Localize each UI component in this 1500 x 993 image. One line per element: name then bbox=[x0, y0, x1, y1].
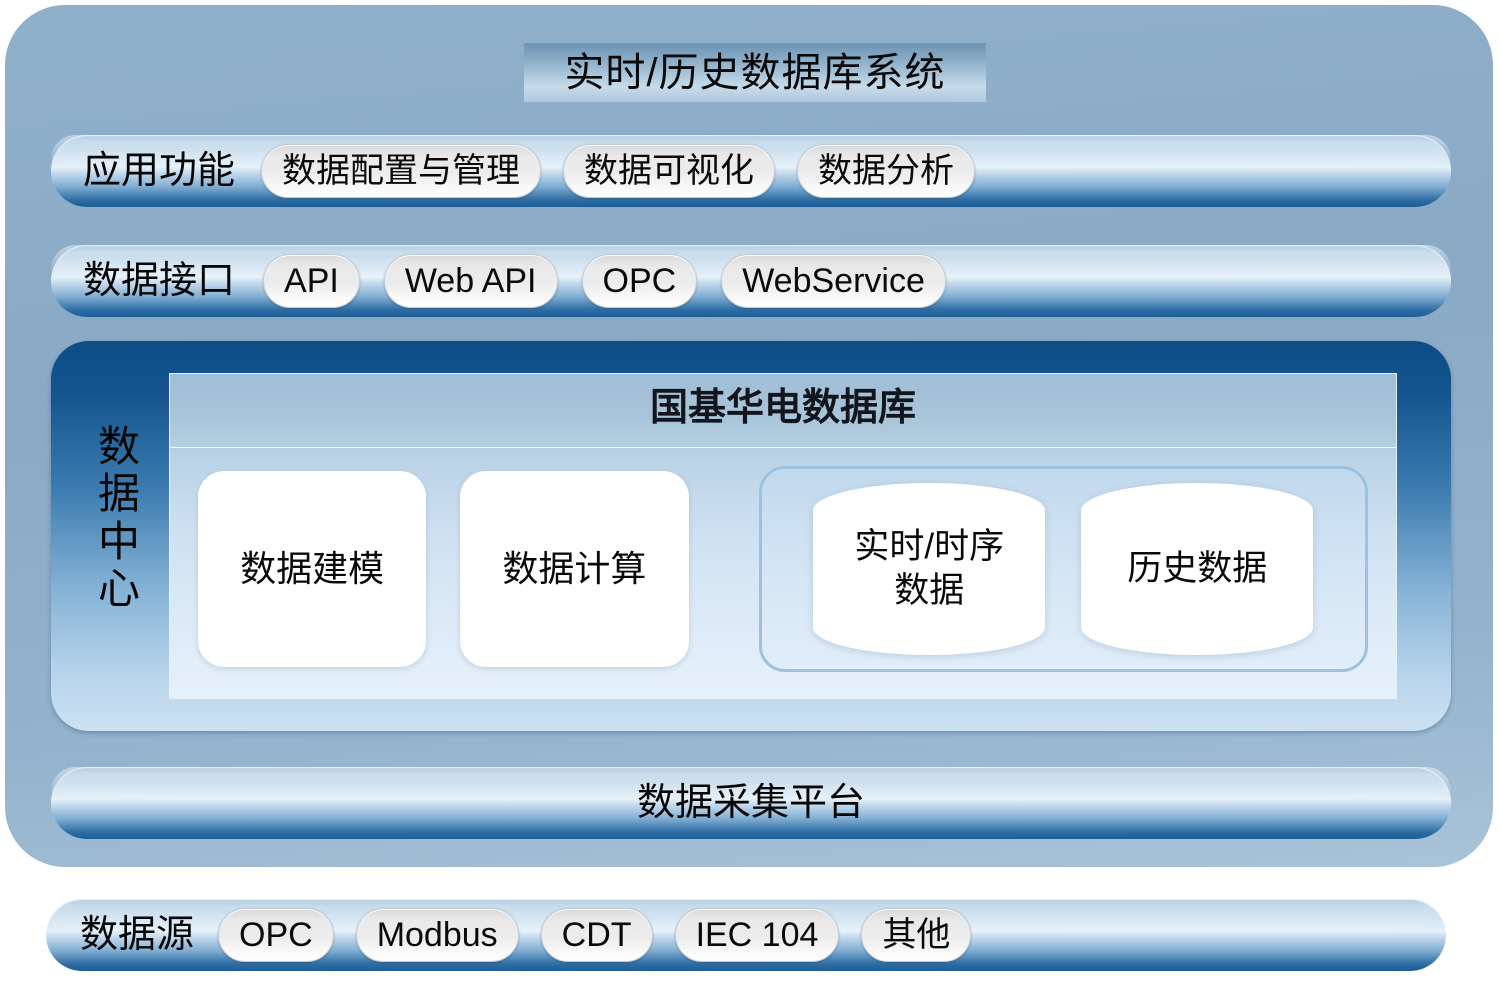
pill-label: API bbox=[284, 264, 339, 298]
system-title: 实时/历史数据库系统 bbox=[564, 53, 945, 93]
storage-group: 实时/时序 数据 历史数据 bbox=[759, 466, 1368, 672]
pill-webservice[interactable]: WebService bbox=[721, 254, 946, 308]
pill-label: 数据分析 bbox=[818, 154, 954, 188]
data-collection-platform-bar: 数据采集平台 bbox=[51, 767, 1451, 839]
data-center-panel: 数 据 中 心 国基华电数据库 数据建模 数据计算 实时/时序 数据 bbox=[51, 341, 1451, 731]
pill-web-api[interactable]: Web API bbox=[384, 254, 558, 308]
database-frame: 国基华电数据库 数据建模 数据计算 实时/时序 数据 历史数据 bbox=[169, 373, 1397, 699]
pill-label: 数据可视化 bbox=[584, 154, 754, 188]
data-center-vertical-label: 数 据 中 心 bbox=[87, 423, 151, 613]
pill-label: Modbus bbox=[377, 918, 498, 952]
pill-source-iec104[interactable]: IEC 104 bbox=[675, 908, 840, 962]
source-pill-group: OPC Modbus CDT IEC 104 其他 bbox=[218, 908, 971, 962]
data-collection-platform-label: 数据采集平台 bbox=[637, 784, 865, 822]
pill-source-other[interactable]: 其他 bbox=[861, 908, 971, 962]
data-interface-layer-label: 数据接口 bbox=[83, 262, 235, 300]
pill-source-opc[interactable]: OPC bbox=[218, 908, 334, 962]
application-layer-label: 应用功能 bbox=[83, 152, 235, 190]
cylinder-historical-data[interactable]: 历史数据 bbox=[1081, 483, 1313, 655]
box-data-modeling[interactable]: 数据建模 bbox=[198, 471, 426, 667]
cylinder-realtime-timeseries-data[interactable]: 实时/时序 数据 bbox=[813, 483, 1045, 655]
pill-source-cdt[interactable]: CDT bbox=[541, 908, 653, 962]
pill-label: 其他 bbox=[882, 918, 950, 952]
database-title: 国基华电数据库 bbox=[170, 386, 1396, 432]
application-pill-group: 数据配置与管理 数据可视化 数据分析 bbox=[261, 144, 975, 198]
pill-label: CDT bbox=[562, 918, 632, 952]
system-title-banner: 实时/历史数据库系统 bbox=[524, 43, 986, 102]
pill-label: IEC 104 bbox=[696, 918, 819, 952]
pill-opc[interactable]: OPC bbox=[582, 254, 698, 308]
data-center-label-char: 心 bbox=[87, 565, 151, 612]
pill-label: OPC bbox=[603, 264, 677, 298]
data-interface-layer-bar: 数据接口 API Web API OPC WebService bbox=[51, 245, 1451, 317]
pill-data-config-management[interactable]: 数据配置与管理 bbox=[261, 144, 541, 198]
data-center-label-char: 中 bbox=[87, 518, 151, 565]
data-source-layer-label: 数据源 bbox=[80, 916, 194, 954]
pill-data-visualization[interactable]: 数据可视化 bbox=[563, 144, 775, 198]
pill-label: 数据配置与管理 bbox=[282, 154, 520, 188]
box-label: 数据建模 bbox=[240, 548, 384, 590]
cylinder-label: 历史数据 bbox=[1127, 547, 1267, 591]
box-data-computation[interactable]: 数据计算 bbox=[460, 471, 688, 667]
pill-label: Web API bbox=[405, 264, 537, 298]
data-center-label-char: 据 bbox=[87, 470, 151, 517]
pill-label: OPC bbox=[239, 918, 313, 952]
pill-source-modbus[interactable]: Modbus bbox=[356, 908, 519, 962]
application-layer-bar: 应用功能 数据配置与管理 数据可视化 数据分析 bbox=[51, 135, 1451, 207]
system-container: 实时/历史数据库系统 应用功能 数据配置与管理 数据可视化 数据分析 数据接口 … bbox=[5, 5, 1493, 867]
cylinder-label: 实时/时序 数据 bbox=[854, 525, 1004, 613]
data-source-layer-bar: 数据源 OPC Modbus CDT IEC 104 其他 bbox=[46, 899, 1446, 971]
pill-label: WebService bbox=[742, 264, 925, 298]
pill-api[interactable]: API bbox=[263, 254, 360, 308]
interface-pill-group: API Web API OPC WebService bbox=[263, 254, 946, 308]
database-components-row: 数据建模 数据计算 实时/时序 数据 历史数据 bbox=[198, 462, 1368, 676]
pill-data-analysis[interactable]: 数据分析 bbox=[797, 144, 975, 198]
data-center-label-char: 数 bbox=[87, 423, 151, 470]
box-label: 数据计算 bbox=[502, 548, 646, 590]
